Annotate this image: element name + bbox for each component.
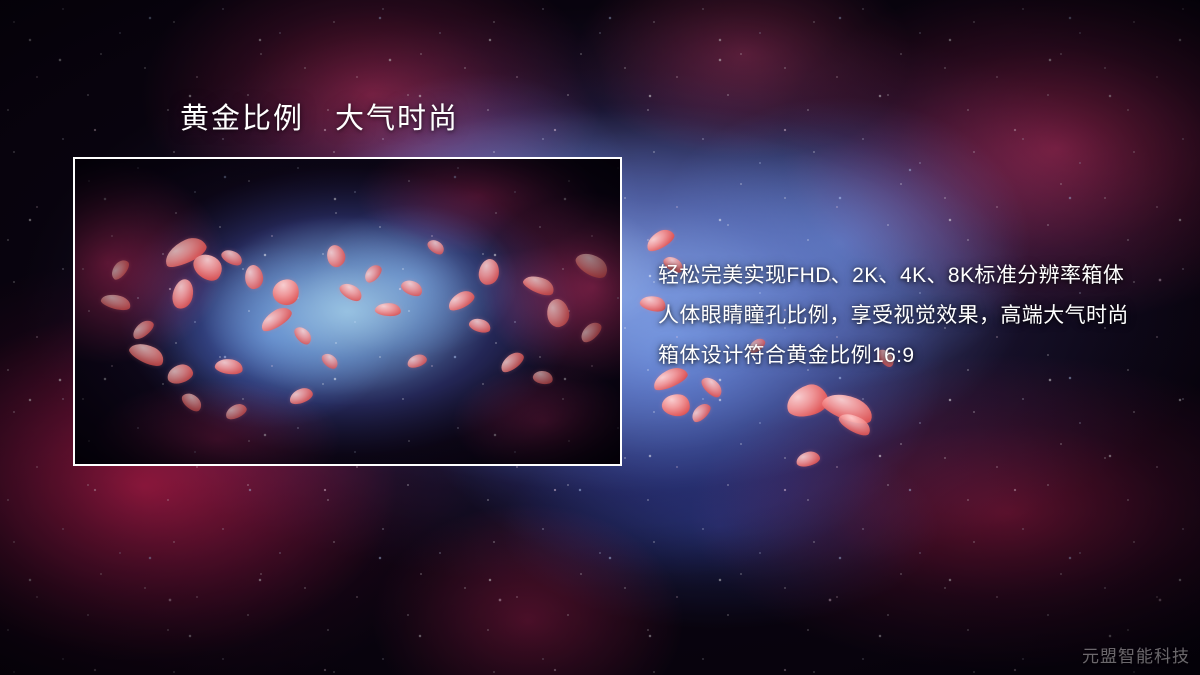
body-copy-line-2: 人体眼睛瞳孔比例，享受视觉效果，高端大气时尚	[658, 296, 1178, 336]
presentation-slide: 黄金比例 大气时尚 轻松完美实现FHD、2K、4K、8K标准分辨率箱体 人体眼睛…	[0, 0, 1200, 675]
photo-content	[75, 159, 620, 464]
petal-shape	[661, 392, 692, 418]
photo-vignette	[75, 159, 620, 464]
petal-shape	[795, 450, 821, 469]
body-copy: 轻松完美实现FHD、2K、4K、8K标准分辨率箱体 人体眼睛瞳孔比例，享受视觉效…	[658, 256, 1178, 376]
petal-shape	[699, 373, 725, 400]
body-copy-line-1: 轻松完美实现FHD、2K、4K、8K标准分辨率箱体	[658, 256, 1178, 296]
petal-shape	[643, 226, 677, 254]
petal-shape	[819, 387, 876, 429]
petal-shape	[782, 380, 831, 422]
framed-photo	[73, 157, 622, 466]
watermark: 元盟智能科技	[1082, 642, 1190, 667]
body-copy-line-3: 箱体设计符合黄金比例16:9	[658, 336, 1178, 376]
petal-shape	[836, 409, 873, 440]
page-title: 黄金比例 大气时尚	[180, 102, 459, 136]
petal-shape	[688, 400, 713, 424]
